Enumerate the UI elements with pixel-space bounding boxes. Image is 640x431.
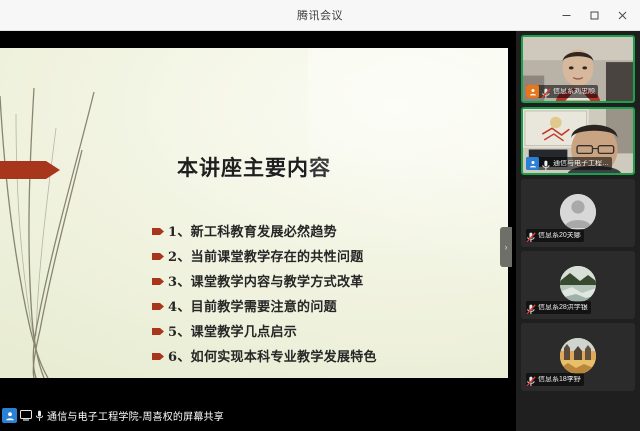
minimize-button[interactable] bbox=[552, 4, 580, 28]
avatar-photo-icon bbox=[560, 266, 596, 302]
slide-bullet-item: 2、 当前课堂教学存在的共性问题 bbox=[152, 243, 492, 268]
close-button[interactable] bbox=[608, 4, 636, 28]
bullet-arrow-icon bbox=[152, 277, 164, 286]
microphone-muted-icon bbox=[526, 230, 536, 241]
slide-bullet-text: 当前课堂教学存在的共性问题 bbox=[191, 246, 364, 265]
slide-bullet-list: 1、 新工科教育发展必然趋势 2、 当前课堂教学存在的共性问题 bbox=[152, 218, 492, 368]
maximize-icon bbox=[589, 10, 600, 21]
avatar bbox=[560, 194, 596, 230]
minimize-icon bbox=[561, 10, 572, 21]
window-title: 腾讯会议 bbox=[297, 7, 343, 23]
participant-name: 信息系20关娜 bbox=[538, 232, 581, 239]
avatar bbox=[560, 338, 596, 374]
maximize-button[interactable] bbox=[580, 4, 608, 28]
slide-bullet-item: 1、 新工科教育发展必然趋势 bbox=[152, 218, 492, 243]
chevron-right-icon: › bbox=[505, 242, 508, 252]
bullet-arrow-icon bbox=[152, 252, 164, 261]
title-bar: 腾讯会议 bbox=[0, 0, 640, 31]
share-status-text: 通信与电子工程学院-周喜权的屏幕共享 bbox=[47, 408, 224, 423]
shared-screen-area[interactable]: 本讲座主要内容 1、 新工科教育发展必然趋势 2、 bbox=[0, 31, 516, 400]
close-icon bbox=[617, 10, 628, 21]
presentation-slide: 本讲座主要内容 1、 新工科教育发展必然趋势 2、 bbox=[0, 48, 508, 378]
video-tile[interactable]: 信息系20关娜 bbox=[521, 179, 635, 247]
microphone-muted-icon bbox=[526, 374, 536, 385]
host-badge-icon bbox=[526, 85, 539, 98]
tencent-meeting-window: 腾讯会议 bbox=[0, 0, 640, 431]
slide-bullet-number: 5、 bbox=[168, 321, 191, 340]
meeting-stage: 本讲座主要内容 1、 新工科教育发展必然趋势 2、 bbox=[0, 31, 640, 431]
participant-name: 信息系刘忠顺 bbox=[553, 88, 595, 95]
participant-name: 信息系18李野 bbox=[538, 376, 581, 383]
video-tile[interactable]: 通信与电子工程… bbox=[521, 107, 635, 175]
slide-bullet-text: 目前教学需要注意的问题 bbox=[191, 296, 337, 315]
bullet-arrow-icon bbox=[152, 227, 164, 236]
slide-bullet-item: 5、 课堂教学几点启示 bbox=[152, 318, 492, 343]
slide-bullet-number: 3、 bbox=[168, 271, 191, 290]
participant-name: 信息系28洪学银 bbox=[538, 304, 588, 311]
default-avatar-icon bbox=[560, 194, 596, 230]
participant-name-label: 通信与电子工程… bbox=[526, 157, 612, 170]
cohost-badge-icon bbox=[526, 157, 539, 170]
avatar-photo-icon bbox=[560, 338, 596, 374]
participant-name-label: 信息系18李野 bbox=[526, 373, 584, 386]
slide-bullet-text: 新工科教育发展必然趋势 bbox=[191, 221, 337, 240]
slide-bullet-text: 如何实现本科专业教学发展特色 bbox=[191, 346, 377, 365]
microphone-icon bbox=[35, 410, 44, 422]
video-tile[interactable]: 信息系18李野 bbox=[521, 323, 635, 391]
slide-bullet-item: 3、 课堂教学内容与教学方式改革 bbox=[152, 268, 492, 293]
slide-bullet-number: 2、 bbox=[168, 246, 191, 265]
grass-decoration-icon bbox=[0, 88, 176, 378]
microphone-icon bbox=[541, 158, 551, 169]
screen-share-icon bbox=[20, 410, 32, 421]
participant-name-label: 信息系刘忠顺 bbox=[526, 85, 598, 98]
person-icon bbox=[5, 411, 15, 421]
bullet-arrow-icon bbox=[152, 327, 164, 336]
microphone-muted-icon bbox=[541, 86, 551, 97]
slide-bullet-text: 课堂教学几点启示 bbox=[191, 321, 297, 340]
share-status-bar: 通信与电子工程学院-周喜权的屏幕共享 bbox=[0, 400, 516, 431]
avatar bbox=[560, 266, 596, 302]
bullet-arrow-icon bbox=[152, 352, 164, 361]
video-tile[interactable]: 信息系28洪学银 bbox=[521, 251, 635, 319]
microphone-muted-icon bbox=[526, 302, 536, 313]
slide-bullet-item: 4、 目前教学需要注意的问题 bbox=[152, 293, 492, 318]
slide-bullet-text: 课堂教学内容与教学方式改革 bbox=[191, 271, 364, 290]
avatar bbox=[2, 408, 17, 423]
participant-name-label: 信息系20关娜 bbox=[526, 229, 584, 242]
slide-bullet-number: 6、 bbox=[168, 346, 191, 365]
slide-bullet-item: 6、 如何实现本科专业教学发展特色 bbox=[152, 343, 492, 368]
window-controls bbox=[552, 0, 636, 31]
slide-bullet-number: 1、 bbox=[168, 221, 191, 240]
video-tile[interactable]: 信息系刘忠顺 bbox=[521, 35, 635, 103]
video-thumbnail-strip[interactable]: › bbox=[516, 31, 640, 431]
slide-bullet-number: 4、 bbox=[168, 296, 191, 315]
participant-name: 通信与电子工程… bbox=[553, 160, 609, 167]
participant-name-label: 信息系28洪学银 bbox=[526, 301, 591, 314]
panel-collapse-toggle[interactable]: › bbox=[500, 227, 512, 267]
bullet-arrow-icon bbox=[152, 302, 164, 311]
slide-title: 本讲座主要内容 bbox=[0, 152, 508, 182]
